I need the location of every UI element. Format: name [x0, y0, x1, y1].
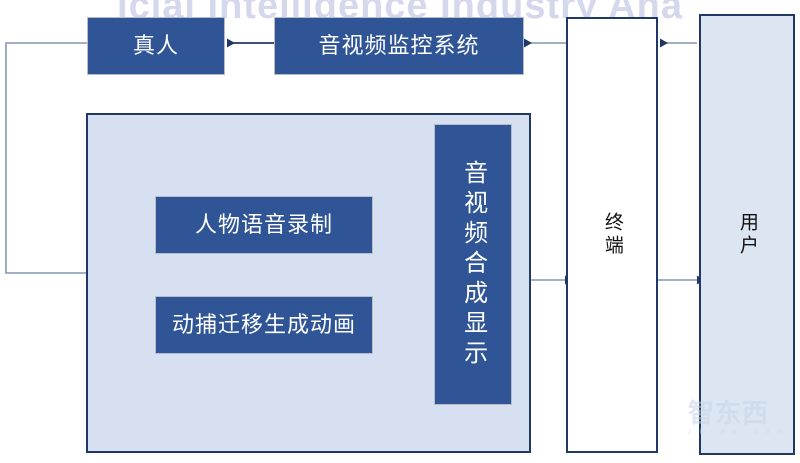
node-real-person[interactable]: 真人 — [87, 17, 225, 75]
node-terminal[interactable]: 终端 — [566, 17, 658, 453]
watermark-brand: 智东西 — [688, 398, 788, 428]
node-user[interactable]: 用户 — [699, 14, 795, 455]
node-user-label: 用户 — [735, 212, 759, 258]
node-mocap-animation-label: 动捕迁移生成动画 — [172, 311, 356, 339]
node-av-synthesis-display-label: 音视频合成显示 — [457, 160, 488, 370]
node-voice-recording[interactable]: 人物语音录制 — [155, 196, 373, 254]
diagram-canvas: icial Intelligence Industry Ana — [0, 0, 800, 463]
node-av-monitor-system-label: 音视频监控系统 — [318, 32, 479, 60]
node-voice-recording-label: 人物语音录制 — [195, 211, 333, 239]
node-terminal-label: 终端 — [600, 212, 624, 258]
watermark-site: z h i d x . c o m — [688, 428, 788, 438]
node-real-person-label: 真人 — [133, 32, 179, 60]
node-av-monitor-system[interactable]: 音视频监控系统 — [274, 17, 524, 75]
node-mocap-animation[interactable]: 动捕迁移生成动画 — [155, 296, 373, 354]
watermark: 智东西 z h i d x . c o m — [688, 398, 788, 450]
node-av-synthesis-display[interactable]: 音视频合成显示 — [434, 124, 512, 405]
